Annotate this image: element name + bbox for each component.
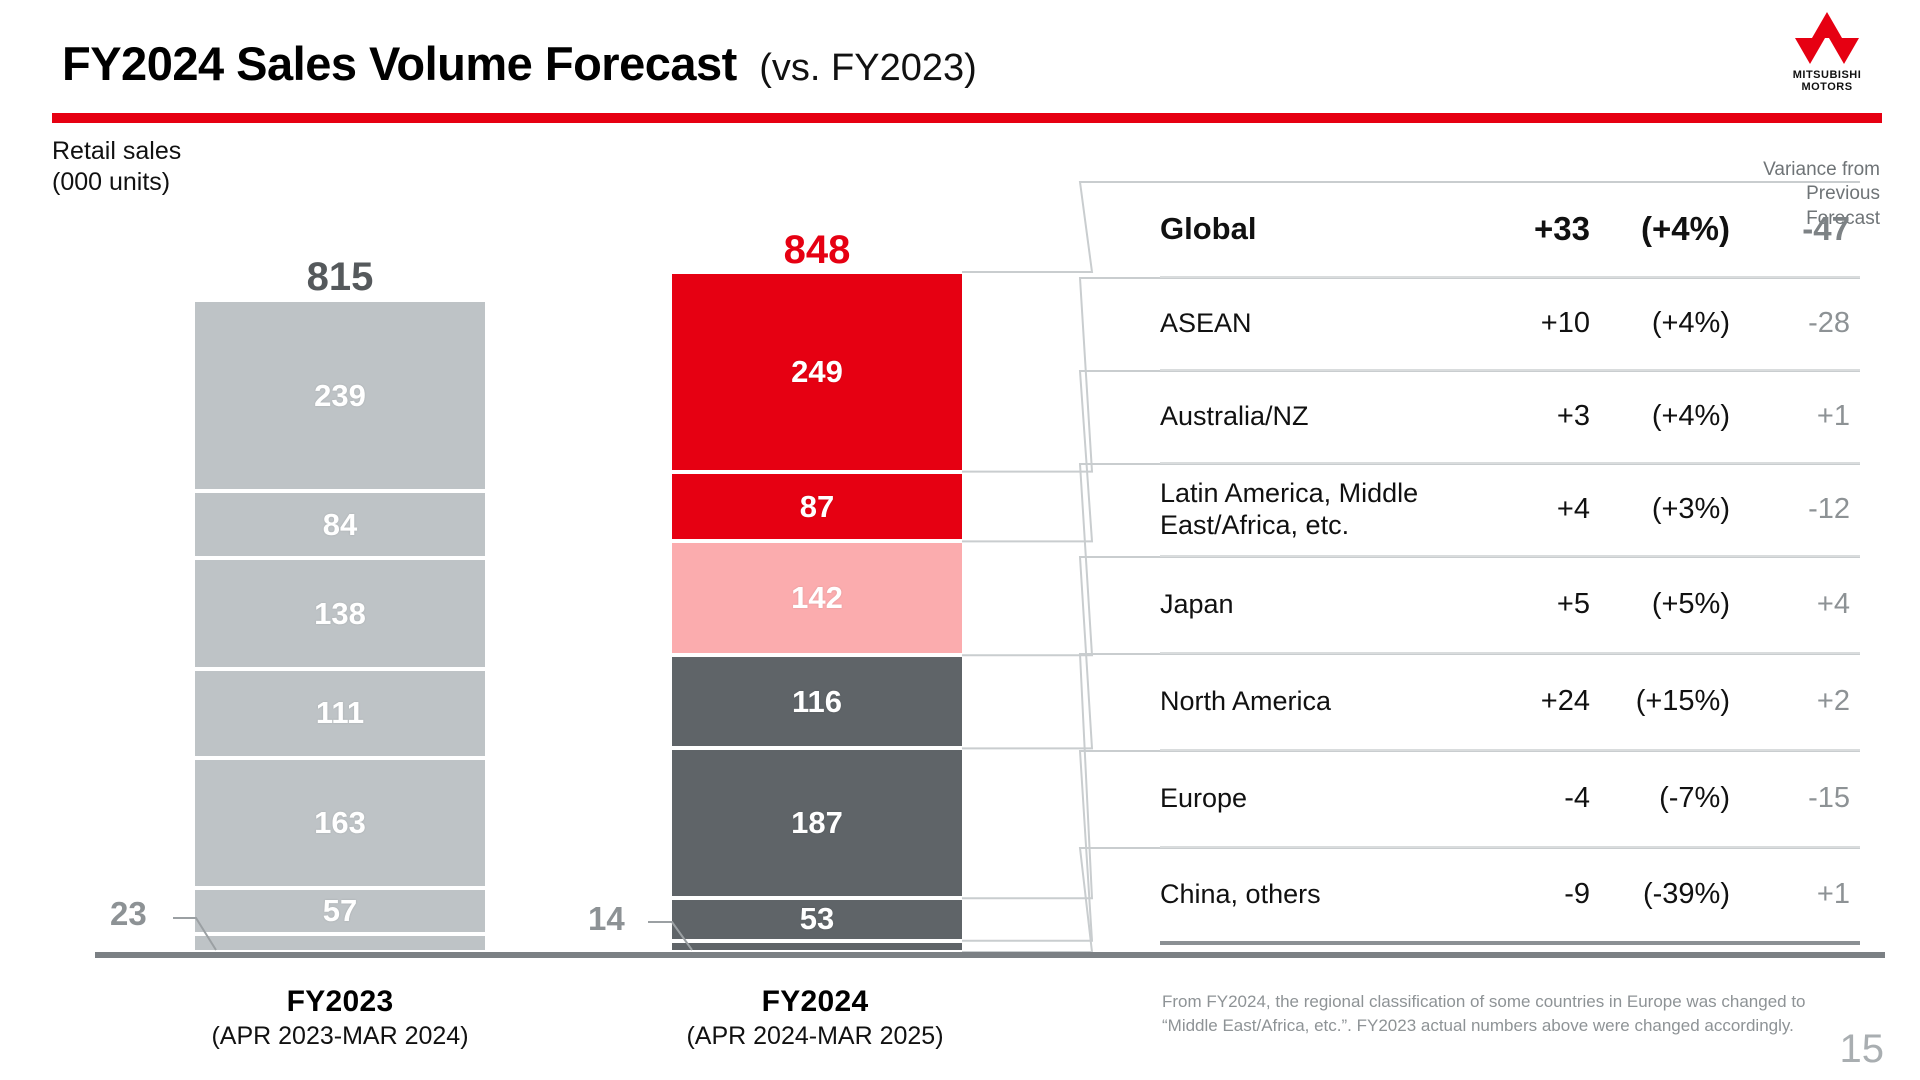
bar-segment-value: 187 <box>791 805 843 841</box>
table-row-change: +24 <box>1460 685 1590 718</box>
region-variance-table: Global+33(+4%)-47ASEAN+10(+4%)-28Austral… <box>1160 182 1860 945</box>
table-row-variance: +4 <box>1730 588 1850 621</box>
x-axis-label-fy2023: FY2023 (APR 2023-MAR 2024) <box>140 985 540 1051</box>
slide: MITSUBISHI MOTORS FY2024 Sales Volume Fo… <box>0 0 1920 1080</box>
bar-segment-value: 57 <box>323 893 357 929</box>
table-row-change: +3 <box>1460 400 1590 433</box>
table-row-region: China, others <box>1160 879 1460 911</box>
page-number: 15 <box>1840 1027 1885 1072</box>
table-row-variance: +1 <box>1730 878 1850 911</box>
table-row-change: -9 <box>1460 878 1590 911</box>
table-row-change-percent: (+4%) <box>1590 210 1730 248</box>
x-axis-label-fy2024: FY2024 (APR 2024-MAR 2025) <box>615 985 1015 1051</box>
mitsubishi-motors-logo: MITSUBISHI MOTORS <box>1772 8 1882 96</box>
x-axis-label-fy2024-main: FY2024 <box>615 985 1015 1019</box>
table-row: Australia/NZ+3(+4%)+1 <box>1160 371 1860 464</box>
x-axis-label-fy2023-main: FY2023 <box>140 985 540 1019</box>
page-title-subtitle: (vs. FY2023) <box>759 47 977 90</box>
table-row-change-percent: (+4%) <box>1590 307 1730 340</box>
bar-segment-fy2024-1: 87 <box>672 472 962 542</box>
table-row-change: +5 <box>1460 588 1590 621</box>
table-row-change-percent: (+5%) <box>1590 588 1730 621</box>
bar-segment-value: 249 <box>791 354 843 390</box>
x-axis-label-fy2023-sub: (APR 2023-MAR 2024) <box>140 1022 540 1051</box>
table-row-region: Latin America, Middle East/Africa, etc. <box>1160 478 1460 542</box>
title-underline-rule <box>52 113 1882 123</box>
table-row-region: ASEAN <box>1160 308 1460 340</box>
bar-segment-value: 138 <box>314 596 366 632</box>
table-row-change: +10 <box>1460 307 1590 340</box>
bar-segment-fy2024-6 <box>672 941 962 952</box>
table-row-variance: -12 <box>1730 493 1850 526</box>
bar-segment-fy2023-1: 84 <box>195 491 485 558</box>
table-row-variance: -47 <box>1730 210 1850 248</box>
table-row: Japan+5(+5%)+4 <box>1160 557 1860 654</box>
bar-segment-fy2024-2: 142 <box>672 541 962 655</box>
bar-segment-value: 53 <box>800 901 834 937</box>
table-row-variance: +2 <box>1730 685 1850 718</box>
page-title-main: FY2024 Sales Volume Forecast <box>62 36 737 91</box>
table-row: China, others-9(-39%)+1 <box>1160 848 1860 945</box>
bar-segment-fy2023-0: 239 <box>195 300 485 491</box>
bar-segment-fy2024-5: 53 <box>672 898 962 941</box>
stacked-bar-fy2023: 2398413811116357 <box>195 300 485 952</box>
table-row-change-percent: (+4%) <box>1590 400 1730 433</box>
table-row-change-percent: (-39%) <box>1590 878 1730 911</box>
table-row-change: +33 <box>1460 210 1590 248</box>
bar-segment-fy2023-6 <box>195 934 485 952</box>
bar-segment-value: 87 <box>800 489 834 525</box>
bar-segment-fy2024-3: 116 <box>672 655 962 748</box>
table-row-region: Global <box>1160 211 1460 248</box>
footnote: From FY2024, the regional classification… <box>1162 990 1852 1038</box>
bar-segment-value: 142 <box>791 580 843 616</box>
bar-segment-fy2023-4: 163 <box>195 758 485 888</box>
table-row-change: +4 <box>1460 493 1590 526</box>
table-row: Europe-4(-7%)-15 <box>1160 751 1860 848</box>
table-row-change-percent: (+3%) <box>1590 493 1730 526</box>
table-row-region: Europe <box>1160 783 1460 815</box>
table-row-change: -4 <box>1460 782 1590 815</box>
bar-segment-value: 163 <box>314 805 366 841</box>
table-row: Latin America, Middle East/Africa, etc.+… <box>1160 464 1860 557</box>
table-row-variance: -28 <box>1730 307 1850 340</box>
stacked-bar-fy2024: 2498714211618753 <box>672 272 962 952</box>
bar-segment-value: 116 <box>792 684 842 720</box>
axis-caption: Retail sales (000 units) <box>52 136 181 197</box>
page-title: FY2024 Sales Volume Forecast (vs. FY2023… <box>62 36 977 91</box>
table-row-change-percent: (-7%) <box>1590 782 1730 815</box>
bar-segment-fy2024-0: 249 <box>672 272 962 472</box>
x-axis-label-fy2024-sub: (APR 2024-MAR 2025) <box>615 1022 1015 1051</box>
table-row-change-percent: (+15%) <box>1590 685 1730 718</box>
bar-segment-value: 111 <box>316 695 364 731</box>
table-row: North America+24(+15%)+2 <box>1160 654 1860 751</box>
bar-total-fy2023: 815 <box>195 255 485 300</box>
callout-fy2023-china-others: 23 <box>110 895 147 933</box>
axis-caption-line-2: (000 units) <box>52 167 181 198</box>
bar-total-fy2024: 848 <box>672 228 962 273</box>
table-row-variance: +1 <box>1730 400 1850 433</box>
table-row: ASEAN+10(+4%)-28 <box>1160 278 1860 371</box>
logo-line-1: MITSUBISHI <box>1772 69 1882 81</box>
bar-segment-fy2024-4: 187 <box>672 748 962 898</box>
logo-line-2: MOTORS <box>1772 81 1882 93</box>
variance-header-line-1: Variance from <box>1700 158 1880 182</box>
table-row-region: Japan <box>1160 589 1460 621</box>
bar-segment-fy2023-2: 138 <box>195 558 485 668</box>
axis-caption-line-1: Retail sales <box>52 136 181 167</box>
bar-segment-fy2023-3: 111 <box>195 669 485 758</box>
table-row: Global+33(+4%)-47 <box>1160 182 1860 278</box>
chart-baseline <box>95 952 1885 958</box>
bar-segment-fy2023-5: 57 <box>195 888 485 934</box>
table-row-variance: -15 <box>1730 782 1850 815</box>
bar-segment-value: 239 <box>314 378 366 414</box>
callout-fy2024-china-others: 14 <box>588 900 625 938</box>
table-row-region: North America <box>1160 686 1460 718</box>
bar-segment-value: 84 <box>323 507 357 543</box>
table-row-region: Australia/NZ <box>1160 401 1460 433</box>
